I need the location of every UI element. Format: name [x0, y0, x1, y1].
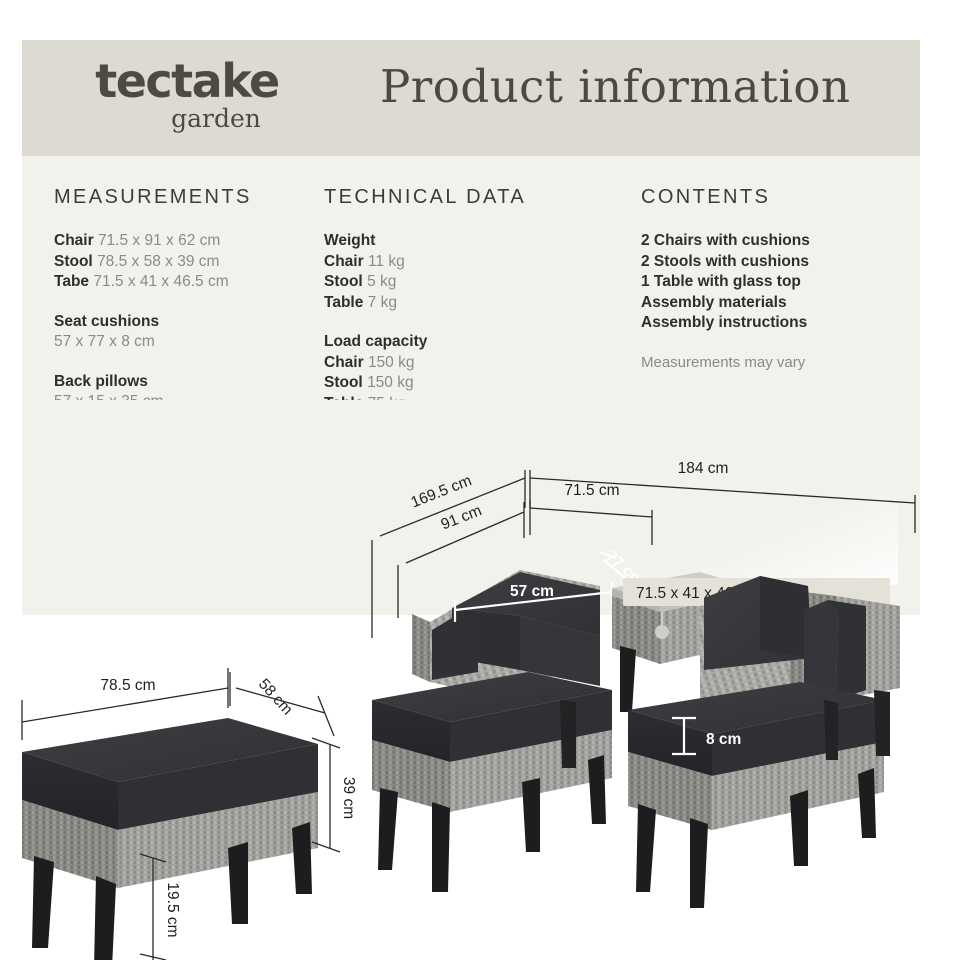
technical-group-weight: Weight Chair 11 kg Stool 5 kg Table 7 kg: [324, 231, 644, 313]
technical-line: Chair 150 kg: [324, 353, 644, 374]
technical-label: Table: [324, 294, 363, 311]
brand-logo: tectake garden: [72, 58, 302, 131]
group-title: Seat cushions: [54, 312, 324, 333]
contents-list: 2 Chairs with cushions 2 Stools with cus…: [641, 231, 941, 334]
measurements-group-seat-cushions: Seat cushions 57 x 77 x 8 cm: [54, 312, 324, 353]
brand-logo-main: tectake: [72, 58, 302, 104]
right-chair-leg: [790, 790, 808, 866]
technical-label: Stool: [324, 374, 363, 391]
contents-item: 1 Table with glass top: [641, 272, 941, 293]
measurement-label: Chair: [54, 232, 94, 249]
technical-line: Stool 150 kg: [324, 373, 644, 394]
technical-value: 7 kg: [368, 294, 397, 311]
chair-leg: [560, 700, 576, 768]
measurement-line: Tabe 71.5 x 41 x 46.5 cm: [54, 272, 324, 293]
stool-leg: [94, 876, 116, 960]
contents-column: CONTENTS 2 Chairs with cushions 2 Stools…: [641, 186, 941, 373]
stool-leg: [292, 822, 312, 894]
chair-leg: [378, 788, 398, 870]
dimension-label-stool-width: 78.5 cm: [100, 677, 155, 694]
dimension-label-stool-depth: 58 cm: [255, 676, 296, 719]
technical-value: 11 kg: [368, 253, 405, 270]
technical-data-heading: TECHNICAL DATA: [324, 186, 644, 209]
contents-item: 2 Stools with cushions: [641, 252, 941, 273]
measurements-heading: MEASUREMENTS: [54, 186, 324, 209]
right-chair-leg: [874, 690, 890, 756]
stool-leg: [228, 842, 248, 924]
group-title: Back pillows: [54, 372, 324, 393]
dimension-label-cushion-thickness: 8 cm: [706, 731, 741, 748]
dimension-label-seat-width: 57 cm: [510, 583, 554, 600]
measurements-group-main: Chair 71.5 x 91 x 62 cm Stool 78.5 x 58 …: [54, 231, 324, 293]
chair-leg: [432, 802, 450, 892]
dimension-label-stool-height: 39 cm: [340, 777, 357, 819]
measurement-line: Stool 78.5 x 58 x 39 cm: [54, 252, 324, 273]
contents-item: 2 Chairs with cushions: [641, 231, 941, 252]
technical-label: Stool: [324, 273, 363, 290]
product-illustration: 184 cm 71.5 cm 169.5 cm 91 cm: [0, 400, 960, 960]
table-leg: [620, 646, 636, 712]
measurement-value: 71.5 x 41 x 46.5 cm: [93, 273, 228, 290]
measurement-value: 78.5 x 58 x 39 cm: [97, 253, 219, 270]
measurement-label: Tabe: [54, 273, 89, 290]
right-chair-leg: [636, 804, 656, 892]
technical-label: Chair: [324, 253, 364, 270]
technical-label: Chair: [324, 354, 364, 371]
right-chair-leg: [858, 768, 876, 838]
stool-leg: [32, 856, 54, 948]
chair-leg: [522, 778, 540, 852]
chair-leg: [588, 755, 606, 824]
technical-value: 5 kg: [367, 273, 396, 290]
product-information-sheet: tectake garden Product information MEASU…: [0, 0, 960, 960]
right-chair-leg: [824, 700, 838, 760]
chair-back-side: [412, 614, 430, 682]
left-chair-with-ottoman: [372, 566, 612, 892]
brand-logo-sub: garden: [72, 106, 302, 131]
technical-line: Chair 11 kg: [324, 252, 644, 273]
technical-line: Stool 5 kg: [324, 272, 644, 293]
group-title: Load capacity: [324, 332, 644, 353]
dimension-label-set-width: 184 cm: [678, 460, 729, 477]
technical-line: Table 7 kg: [324, 293, 644, 314]
group-title: Weight: [324, 231, 644, 252]
contents-disclaimer: Measurements may vary: [641, 353, 941, 373]
page-title: Product information: [380, 60, 900, 113]
measurement-value: 71.5 x 91 x 62 cm: [98, 232, 220, 249]
measurement-label: Stool: [54, 253, 93, 270]
measurement-value: 57 x 77 x 8 cm: [54, 332, 324, 353]
dimension-label-chair-width: 71.5 cm: [564, 482, 619, 499]
contents-item: Assembly materials: [641, 293, 941, 314]
contents-heading: CONTENTS: [641, 186, 941, 209]
contents-item: Assembly instructions: [641, 313, 941, 334]
measurement-line: Chair 71.5 x 91 x 62 cm: [54, 231, 324, 252]
technical-value: 150 kg: [368, 354, 415, 371]
right-chair-leg: [690, 818, 708, 908]
technical-value: 150 kg: [367, 374, 414, 391]
dimension-label-stool-leg-height: 19.5 cm: [164, 882, 181, 937]
